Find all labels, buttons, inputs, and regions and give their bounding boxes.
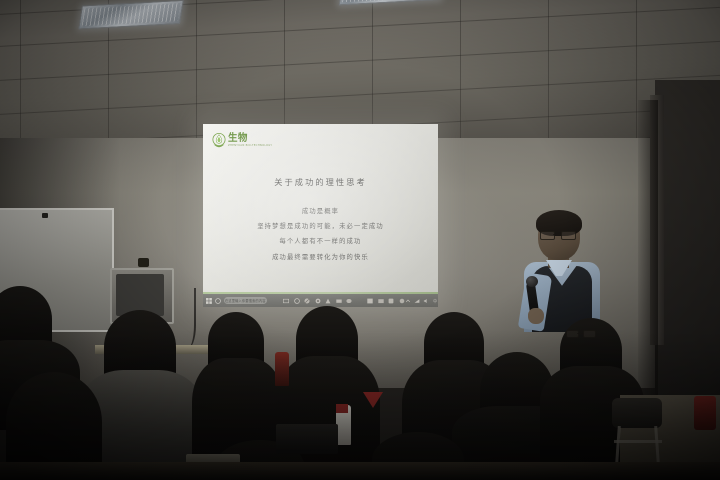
red-decoration xyxy=(336,404,348,413)
mail-icon[interactable] xyxy=(336,298,342,304)
ceiling-light-panel xyxy=(78,0,184,30)
chair-back xyxy=(612,398,662,428)
chevron-up-icon[interactable] xyxy=(405,298,411,304)
store-icon[interactable] xyxy=(325,298,331,304)
audience-glasses-icon xyxy=(566,330,596,336)
edge-icon[interactable] xyxy=(294,298,300,304)
monitor-cap xyxy=(138,258,149,267)
glasses-icon xyxy=(540,231,576,238)
taskbar-search-input[interactable]: 在这里输入你要搜索的内容 xyxy=(224,297,267,305)
slide-body-line: 每个人都有不一样的成功 xyxy=(203,236,438,245)
explorer-icon[interactable] xyxy=(304,298,310,304)
slide-body: 成功是概率 坚持梦想是成功的可能，未必一定成功 每个人都有不一样的成功 成功最终… xyxy=(203,206,438,267)
network-icon[interactable] xyxy=(414,298,420,304)
wall-edge xyxy=(638,100,658,400)
powerpoint-icon[interactable] xyxy=(367,298,373,304)
wechat-icon[interactable] xyxy=(346,298,352,304)
presenter xyxy=(516,212,610,332)
right-dark-wall xyxy=(655,80,720,410)
task-view-icon[interactable] xyxy=(283,298,289,304)
slide-content: 生物 ZHENYUAN BIO-TECHNOLOGY 关于成功的理性思考 成功是… xyxy=(203,124,438,294)
trash-bin xyxy=(694,396,716,430)
chrome-icon[interactable] xyxy=(315,298,321,304)
thermos-cup xyxy=(275,352,289,386)
slide-body-line: 成功最终需要转化为你的快乐 xyxy=(203,252,438,261)
app-icon[interactable] xyxy=(388,298,394,304)
photo-scene: 生物 ZHENYUAN BIO-TECHNOLOGY 关于成功的理性思考 成功是… xyxy=(0,0,720,480)
slide-body-line: 成功是概率 xyxy=(203,206,438,215)
microphone-head-icon xyxy=(526,276,538,287)
search-placeholder: 在这里输入你要搜索的内容 xyxy=(225,298,266,303)
windows-taskbar[interactable]: 在这里输入你要搜索的内容 xyxy=(203,294,438,307)
cortana-circle-icon[interactable] xyxy=(215,298,221,304)
svg-text:中: 中 xyxy=(433,298,437,303)
volume-icon[interactable] xyxy=(423,298,429,304)
audience-member xyxy=(6,372,102,472)
slide-body-line: 坚持梦想是成功的可能，未必一定成功 xyxy=(203,221,438,230)
folder-icon[interactable] xyxy=(378,298,384,304)
projection-screen: 生物 ZHENYUAN BIO-TECHNOLOGY 关于成功的理性思考 成功是… xyxy=(203,124,438,307)
ime-icon[interactable]: 中 xyxy=(432,298,438,304)
slide-title: 关于成功的理性思考 xyxy=(203,176,438,188)
start-icon[interactable] xyxy=(206,298,212,304)
laptop xyxy=(276,424,338,454)
company-logo: 生物 ZHENYUAN BIO-TECHNOLOGY xyxy=(212,133,272,148)
conference-table xyxy=(0,462,720,480)
logo-chinese-text: 生物 xyxy=(228,133,272,143)
presenter-hand xyxy=(528,308,544,324)
whiteboard-clip-icon xyxy=(42,213,48,218)
logo-english-text: ZHENYUAN BIO-TECHNOLOGY xyxy=(228,145,272,148)
ceiling-light-panel xyxy=(339,0,444,5)
green-leaf-drop-icon xyxy=(212,133,226,148)
